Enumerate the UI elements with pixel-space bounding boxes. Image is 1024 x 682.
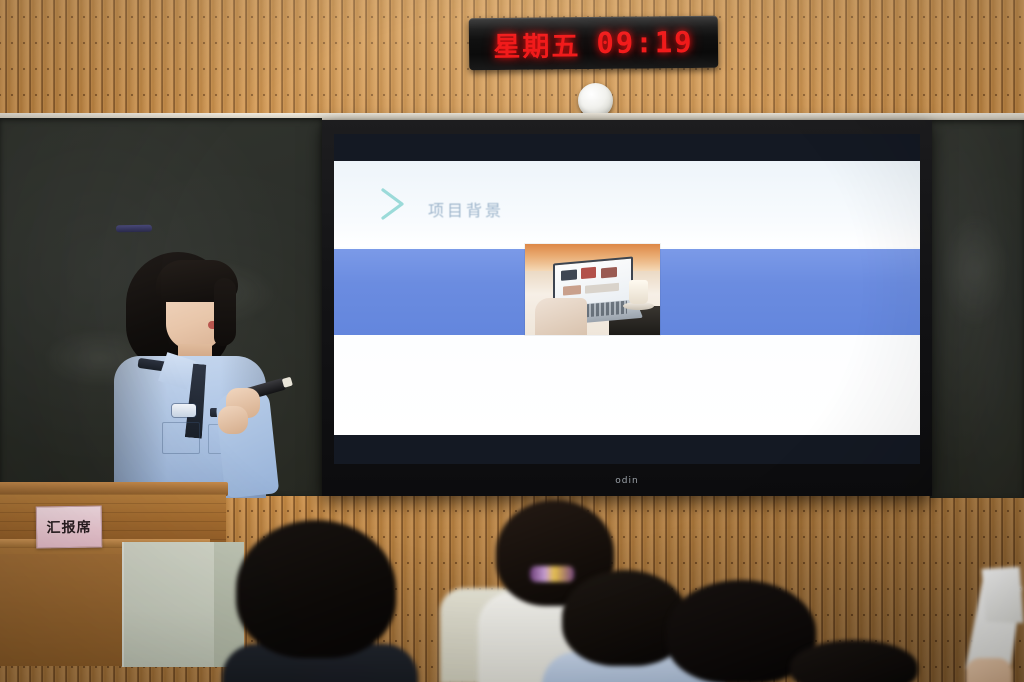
- slide-title: 项目背景: [428, 197, 504, 221]
- letterbox-top: [334, 134, 920, 161]
- chalk-smudge: [940, 210, 1010, 330]
- uniform-pocket-left: [162, 422, 200, 454]
- photo-coffee-cup: [629, 280, 648, 304]
- handheld-documents: [966, 566, 1024, 682]
- slide-header: [334, 161, 920, 247]
- led-wall-clock: 星期五 09:19: [469, 16, 719, 71]
- presentation-slide: 项目背景: [334, 161, 920, 435]
- letterbox-bottom: [334, 435, 920, 464]
- presentation-room-scene: 星期五 09:19 项目背景: [0, 0, 1024, 682]
- wall-mounted-display[interactable]: 项目背景: [322, 120, 932, 496]
- photo-thumbnail: [601, 267, 617, 278]
- audience-hair: [236, 520, 396, 658]
- presenter-hair-side: [214, 278, 236, 346]
- photo-hands: [535, 298, 587, 335]
- photo-thumbnail: [561, 269, 577, 280]
- right-blackboard-panel: [930, 120, 1024, 498]
- audience-member-far-right-bottom: [790, 640, 922, 682]
- desk-nameplate: 汇报席: [36, 506, 103, 549]
- whiteboard-marker-icon: [116, 225, 152, 233]
- led-clock-day: 星期五: [493, 24, 580, 64]
- audience-member-front-left: [222, 520, 412, 682]
- podium-base: [0, 554, 126, 666]
- chevron-right-icon: [378, 187, 408, 221]
- photo-thumbnail: [581, 267, 596, 279]
- display-brand-logo: odin: [322, 476, 932, 486]
- hand-holding-papers: [966, 658, 1012, 682]
- podium-upper-panel: [0, 494, 226, 542]
- desk-nameplate-text: 汇报席: [46, 517, 91, 538]
- audience-hair: [790, 640, 918, 682]
- presenter-officer: [100, 252, 285, 498]
- podium-wood-grain: [0, 494, 226, 542]
- presenter-badge-patch: [172, 404, 196, 417]
- slide-photo-laptop-desk: [525, 244, 660, 335]
- led-clock-time: 09:19: [596, 25, 694, 60]
- presenter-hand-left: [218, 406, 248, 434]
- photo-thumbnail: [563, 285, 581, 296]
- display-screen: 项目背景: [334, 134, 920, 464]
- photo-thumbnail: [585, 283, 619, 294]
